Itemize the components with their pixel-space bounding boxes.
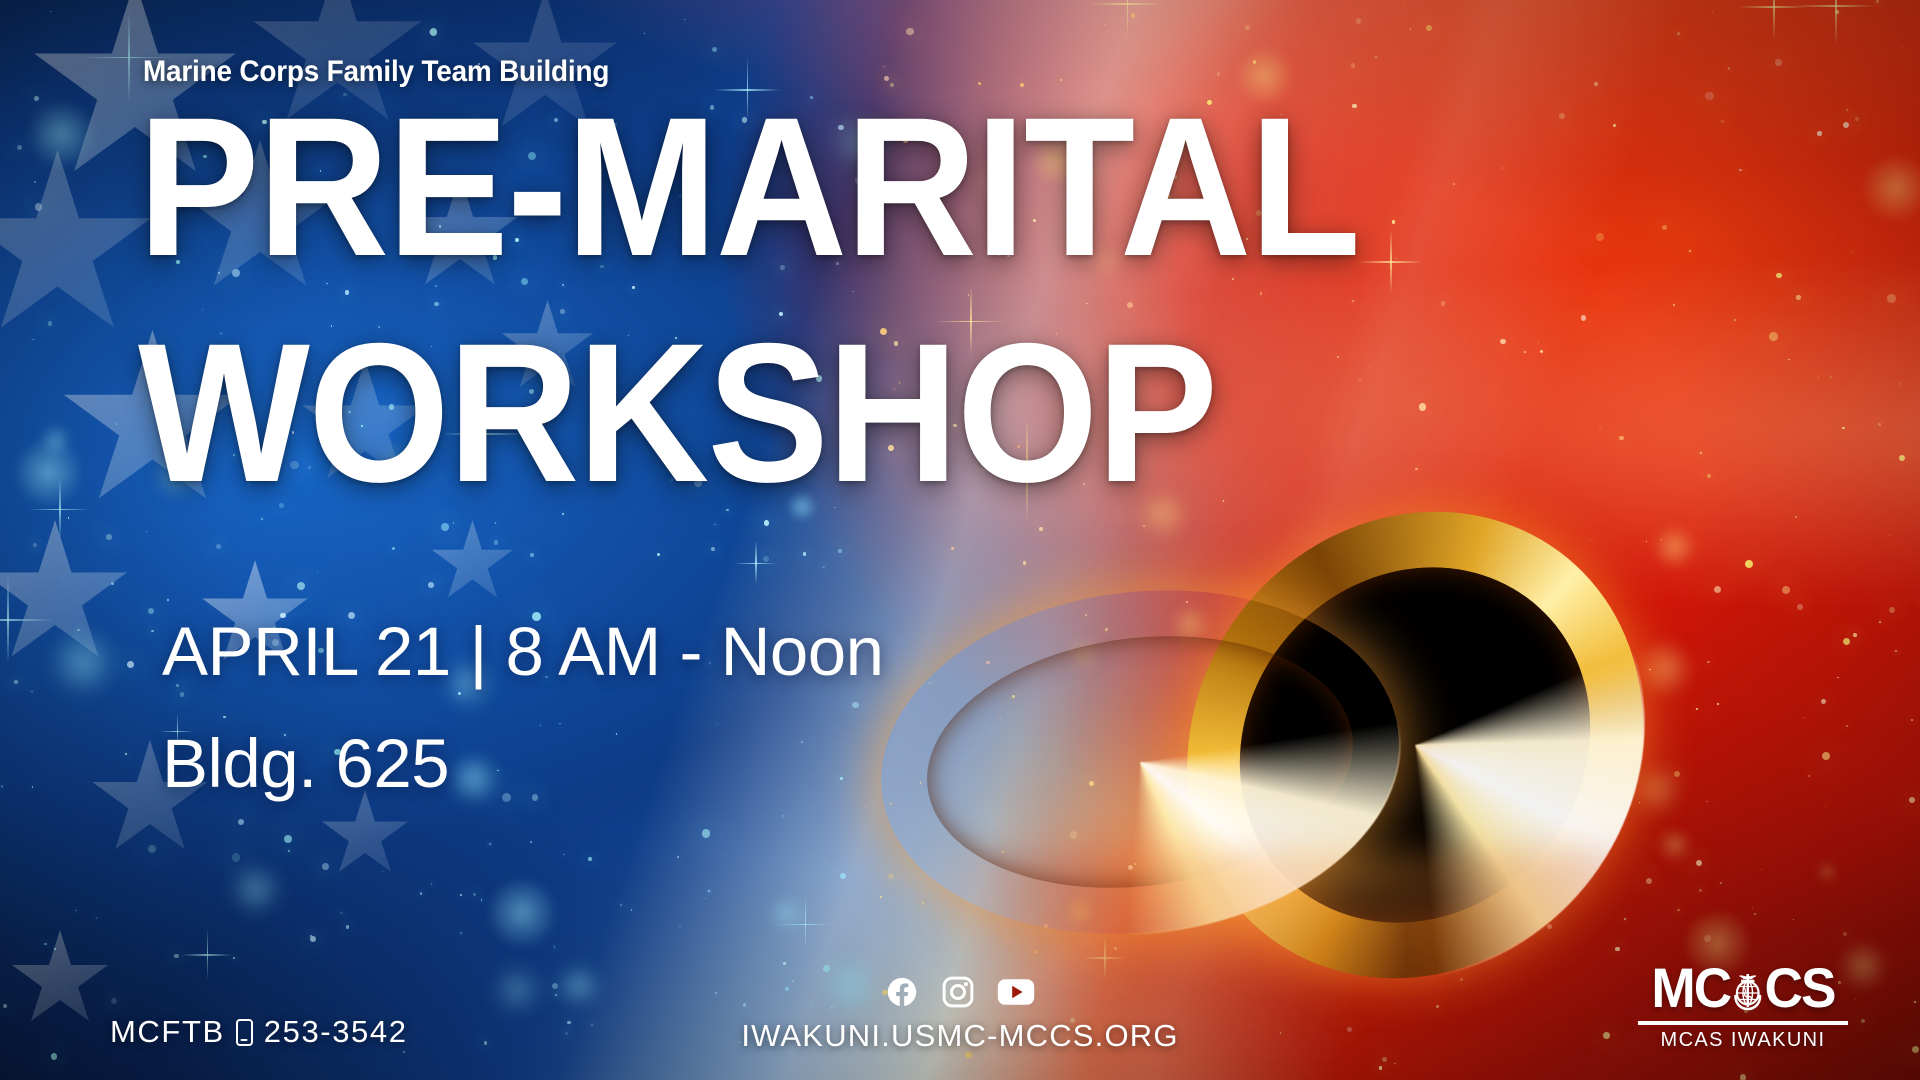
- page-title-line-2: WORKSHOP: [138, 330, 1216, 496]
- website-url[interactable]: IWAKUNI.USMC-MCCS.ORG: [741, 1018, 1178, 1054]
- mccs-wordmark-left: MC: [1651, 960, 1730, 1016]
- contact-info: MCFTB 253-3542: [110, 1014, 408, 1050]
- youtube-icon[interactable]: [997, 977, 1035, 1007]
- wedding-rings-image: [880, 520, 1920, 1000]
- event-datetime: APRIL 21 | 8 AM - Noon: [162, 612, 884, 691]
- instagram-icon[interactable]: [941, 975, 975, 1009]
- phone-number[interactable]: 253-3542: [264, 1014, 408, 1050]
- mccs-wordmark-right: CS: [1765, 960, 1835, 1016]
- mobile-phone-icon: [236, 1019, 253, 1046]
- mccs-divider: [1638, 1021, 1848, 1025]
- facebook-icon[interactable]: [885, 975, 919, 1009]
- poster-canvas: Marine Corps Family Team Building PRE-MA…: [0, 0, 1920, 1080]
- event-location: Bldg. 625: [162, 724, 449, 803]
- page-title-line-1: PRE-MARITAL: [138, 104, 1359, 270]
- mccs-installation: MCAS IWAKUNI: [1638, 1029, 1848, 1052]
- mccs-logo: MC CS: [1638, 960, 1848, 1052]
- mccs-wordmark: MC CS: [1643, 960, 1843, 1016]
- contact-label: MCFTB: [110, 1014, 225, 1050]
- social-media-links: [885, 975, 1035, 1009]
- eagle-globe-anchor-icon: [1726, 965, 1770, 1015]
